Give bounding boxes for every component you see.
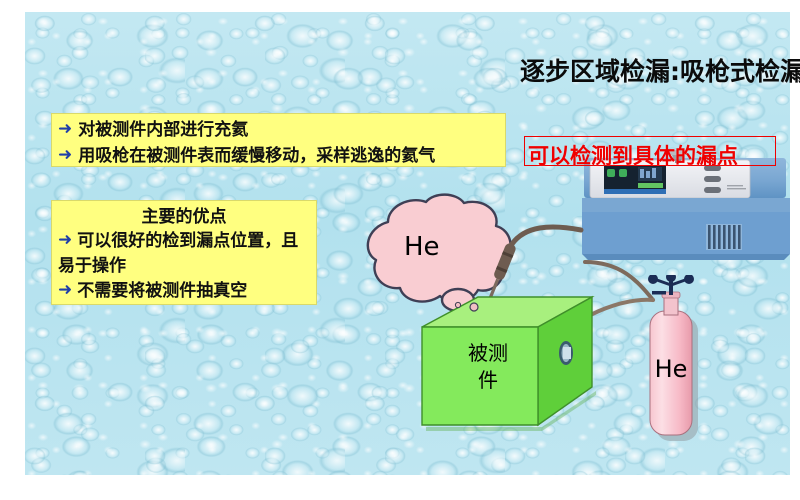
cylinder-valve-icon [648,275,694,295]
instrument-midsection [582,198,790,214]
cylinder-label: He [648,355,694,383]
instrument-base [582,254,790,260]
test-object-label: 被测 件 [443,340,533,394]
callout-line-text: 对被测件内部进行充氦 [78,117,248,143]
callout-line: ➜不需要将被测件抽真空 [58,279,310,304]
page-title: 逐步区域检漏:吸枪式检漏 [520,52,800,88]
callout-line: ➜ 对被测件内部进行充氦 [58,117,499,143]
callout-line: ➜可以很好的检到漏点位置，且易于操作 [58,229,310,279]
callout-line-text: 用吸枪在被测件表而缓慢移动，采样逃逸的氦气 [78,143,435,169]
test-object-port [559,341,573,365]
arrow-bullet-icon: ➜ [58,278,72,303]
arrow-bullet-icon: ➜ [58,116,72,142]
callout-box-method: ➜ 对被测件内部进行充氦 ➜ 用吸枪在被测件表而缓慢移动，采样逃逸的氦气 [51,113,506,167]
screen-status-bar [638,183,663,188]
cloud-label: He [404,232,440,262]
screen-indicator-2 [619,169,627,177]
callout-line-text: 可以很好的检到漏点位置，且易于操作 [58,231,298,276]
callout-header: 主要的优点 [58,205,310,229]
vent-grille-icon [706,224,742,250]
screen-taskbar [604,189,666,194]
slide-canvas: 逐步区域检漏:吸枪式检漏 ➜ 对被测件内部进行充氦 ➜ 用吸枪在被测件表而缓慢移… [0,0,800,500]
callout-line: ➜ 用吸枪在被测件表而缓慢移动，采样逃逸的氦气 [58,143,499,169]
arrow-bullet-icon: ➜ [58,142,72,168]
callout-box-advantages: 主要的优点 ➜可以很好的检到漏点位置，且易于操作 ➜不需要将被测件抽真空 [51,200,317,305]
instrument-button-3 [704,187,721,193]
instrument-button-2 [704,176,721,182]
leak-point-marker-2 [455,302,460,307]
leak-point-marker-1 [470,303,478,311]
callout-line-text: 不需要将被测件抽真空 [77,281,247,301]
instrument-lower-body [582,212,790,254]
screen-indicator-1 [607,169,615,177]
arrow-bullet-icon: ➜ [58,228,72,253]
test-object-label-line2: 件 [443,367,533,394]
emphasis-text: 可以检测到具体的漏点 [528,140,738,170]
test-object-label-line1: 被测 [443,340,533,367]
